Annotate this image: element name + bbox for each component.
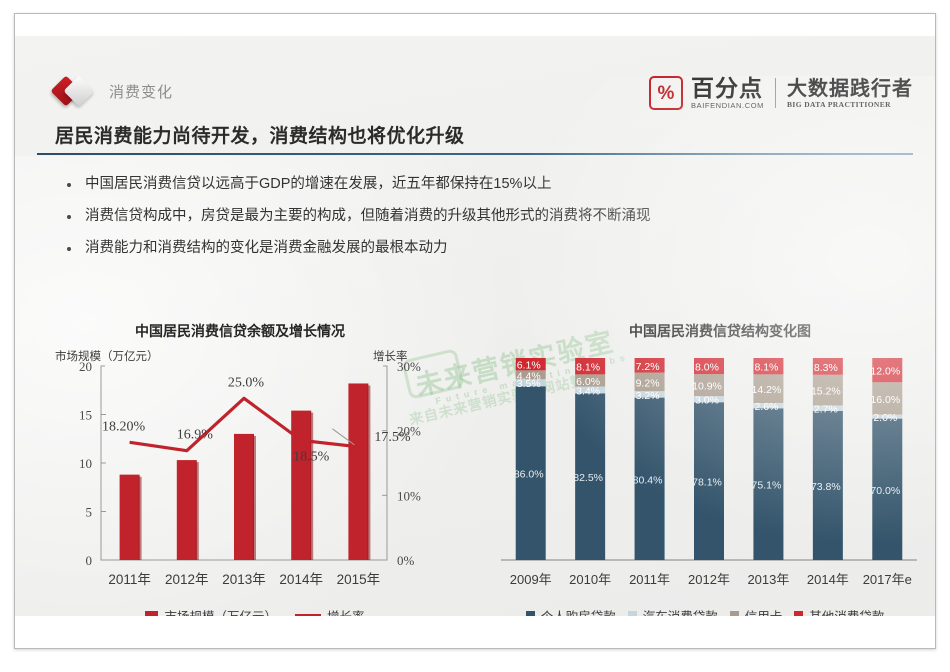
legend-swatch-icon [794, 611, 803, 616]
legend-label: 个人购房贷款 [541, 606, 616, 616]
brand-logo: % 百分点 BAIFENDIAN.COM 大数据践行者 BIG DATA PRA… [649, 76, 913, 110]
left-line-label: 18.20% [102, 419, 146, 434]
stacked-segment-label: 8.1% [754, 362, 778, 374]
stacked-segment-label: 8.3% [814, 362, 838, 374]
page-title: 居民消费能力尚待开发，消费结构也将优化升级 [55, 121, 465, 148]
left-chart-title: 中国居民消费信贷余额及增长情况 [75, 321, 405, 341]
bullet-text: 中国居民消费信贷以远高于GDP的增速在发展，近五年都保持在15%以上 [85, 174, 551, 195]
left-chart-legend: 市场规模（万亿元）增长率 [55, 606, 455, 616]
left-x-tick: 2011年 [108, 572, 151, 587]
left-line-label: 25.0% [228, 375, 265, 390]
stacked-segment-label: 7.2% [636, 361, 660, 373]
legend-item[interactable]: 信用卡 [730, 606, 783, 616]
right-x-tick: 2014年 [807, 572, 849, 587]
legend-item[interactable]: 市场规模（万亿元） [145, 606, 277, 616]
left-bar [177, 460, 199, 560]
left-y-tick: 15 [79, 408, 92, 423]
stacked-segment-label: 14.2% [752, 384, 782, 396]
bullet-list: 中国居民消费信贷以远高于GDP的增速在发展，近五年都保持在15%以上 消费信贷构… [59, 174, 889, 270]
stacked-segment-label: 16.0% [870, 394, 900, 406]
kicker-label: 消费变化 [109, 81, 173, 102]
left-y-tick: 10 [79, 456, 92, 471]
stacked-segment-label: 4.4% [517, 370, 541, 382]
right-x-tick: 2017年e [863, 572, 912, 587]
left-y2-axis-caption: 增长率 [373, 348, 408, 364]
legend-swatch-icon [145, 611, 158, 616]
stacked-segment-label: 3.0% [695, 395, 719, 407]
stacked-segment-label: 82.5% [573, 472, 603, 484]
brand-tagline-en: BIG DATA PRACTITIONER [787, 100, 891, 109]
left-line-label: 16.9% [177, 428, 214, 443]
left-y2-tick: 10% [397, 488, 421, 503]
legend-item[interactable]: 个人购房贷款 [526, 606, 616, 616]
diamond-logo-icon [55, 76, 99, 106]
right-x-tick: 2010年 [569, 572, 611, 587]
stacked-segment-label: 3.2% [636, 390, 660, 402]
stacked-segment-label: 2.7% [814, 404, 838, 416]
percent-icon: % [649, 76, 683, 110]
left-line-label: 18.5% [293, 449, 330, 464]
stacked-segment-label: 73.8% [811, 481, 841, 493]
left-chart-panel: 市场规模（万亿元） 增长率 051015200%10%20%30%2011年20… [55, 348, 455, 616]
stacked-segment-label: 6.0% [576, 376, 600, 388]
left-line-label: 17.5% [374, 430, 411, 445]
brand-tagline-cn: 大数据践行者 [787, 78, 913, 100]
stacked-segment-label: 86.0% [514, 469, 544, 481]
bullet-dot-icon [67, 183, 71, 187]
legend-swatch-icon [628, 611, 637, 616]
right-chart-legend: 个人购房贷款汽车消费贷款信用卡其他消费贷款 [485, 606, 925, 616]
left-chart-svg: 051015200%10%20%30%2011年2012年2013年2014年2… [55, 348, 455, 598]
bullet-dot-icon [67, 215, 71, 219]
stacked-segment-label: 9.2% [636, 377, 660, 389]
list-item: 消费能力和消费结构的变化是消费金融发展的最根本动力 [59, 238, 889, 259]
legend-item[interactable]: 增长率 [295, 606, 365, 616]
left-y-tick: 0 [86, 553, 93, 568]
stacked-segment-label: 2.6% [754, 401, 778, 413]
right-chart-panel: 86.0%3.5%4.4%6.1%82.5%3.4%6.0%8.1%80.4%3… [485, 348, 925, 616]
left-bar [348, 383, 370, 560]
list-item: 消费信贷构成中，房贷是最为主要的构成，但随着消费的升级其他形式的消费将不断涌现 [59, 206, 889, 227]
left-x-tick: 2013年 [222, 572, 266, 587]
brand-name-en: BAIFENDIAN.COM [691, 101, 764, 110]
stacked-segment-label: 12.0% [870, 366, 900, 378]
left-x-tick: 2015年 [337, 572, 381, 587]
left-bar [291, 411, 313, 560]
left-bar [120, 475, 142, 560]
right-chart-svg: 86.0%3.5%4.4%6.1%82.5%3.4%6.0%8.1%80.4%3… [485, 348, 925, 598]
left-bar [234, 434, 256, 560]
right-x-tick: 2013年 [747, 572, 789, 587]
stacked-segment-label: 75.1% [752, 480, 782, 492]
stacked-segment-label: 80.4% [633, 474, 663, 486]
stacked-segment-label: 2.0% [873, 412, 897, 424]
right-x-tick: 2009年 [510, 572, 552, 587]
bullet-text: 消费信贷构成中，房贷是最为主要的构成，但随着消费的升级其他形式的消费将不断涌现 [85, 206, 651, 227]
left-y2-tick: 0% [397, 553, 415, 568]
legend-line-icon [295, 614, 321, 616]
legend-label: 汽车消费贷款 [643, 606, 718, 616]
left-y-axis-caption: 市场规模（万亿元） [55, 348, 159, 364]
legend-swatch-icon [730, 611, 739, 616]
stacked-segment-label: 10.9% [692, 381, 722, 393]
bullet-text: 消费能力和消费结构的变化是消费金融发展的最根本动力 [85, 238, 448, 259]
right-x-tick: 2011年 [629, 572, 670, 587]
legend-label: 信用卡 [745, 606, 783, 616]
stacked-segment-label: 8.1% [576, 362, 600, 374]
bullet-dot-icon [67, 247, 71, 251]
legend-label: 增长率 [327, 606, 365, 616]
right-chart-title: 中国居民消费信贷结构变化图 [525, 321, 915, 341]
stacked-segment-label: 70.0% [870, 485, 900, 497]
stacked-segment-label: 6.1% [517, 360, 541, 372]
slide-kicker: 消费变化 [55, 76, 173, 106]
stacked-segment-label: 78.1% [692, 477, 722, 489]
slide-canvas: 消费变化 % 百分点 BAIFENDIAN.COM 大数据践行者 BIG DAT… [15, 36, 935, 616]
list-item: 中国居民消费信贷以远高于GDP的增速在发展，近五年都保持在15%以上 [59, 174, 889, 195]
title-underline [37, 153, 913, 155]
legend-item[interactable]: 汽车消费贷款 [628, 606, 718, 616]
slide-frame: 消费变化 % 百分点 BAIFENDIAN.COM 大数据践行者 BIG DAT… [14, 13, 936, 649]
left-x-tick: 2012年 [165, 572, 209, 587]
stacked-segment-label: 15.2% [811, 386, 841, 398]
stacked-segment-label: 8.0% [695, 362, 719, 374]
legend-label: 其他消费贷款 [809, 606, 884, 616]
legend-swatch-icon [526, 611, 535, 616]
legend-item[interactable]: 其他消费贷款 [794, 606, 884, 616]
brand-name-cn: 百分点 [691, 76, 763, 100]
right-x-tick: 2012年 [688, 572, 730, 587]
left-x-tick: 2014年 [279, 572, 323, 587]
brand-divider [775, 78, 776, 108]
legend-label: 市场规模（万亿元） [164, 606, 277, 616]
left-y-tick: 5 [86, 505, 93, 520]
